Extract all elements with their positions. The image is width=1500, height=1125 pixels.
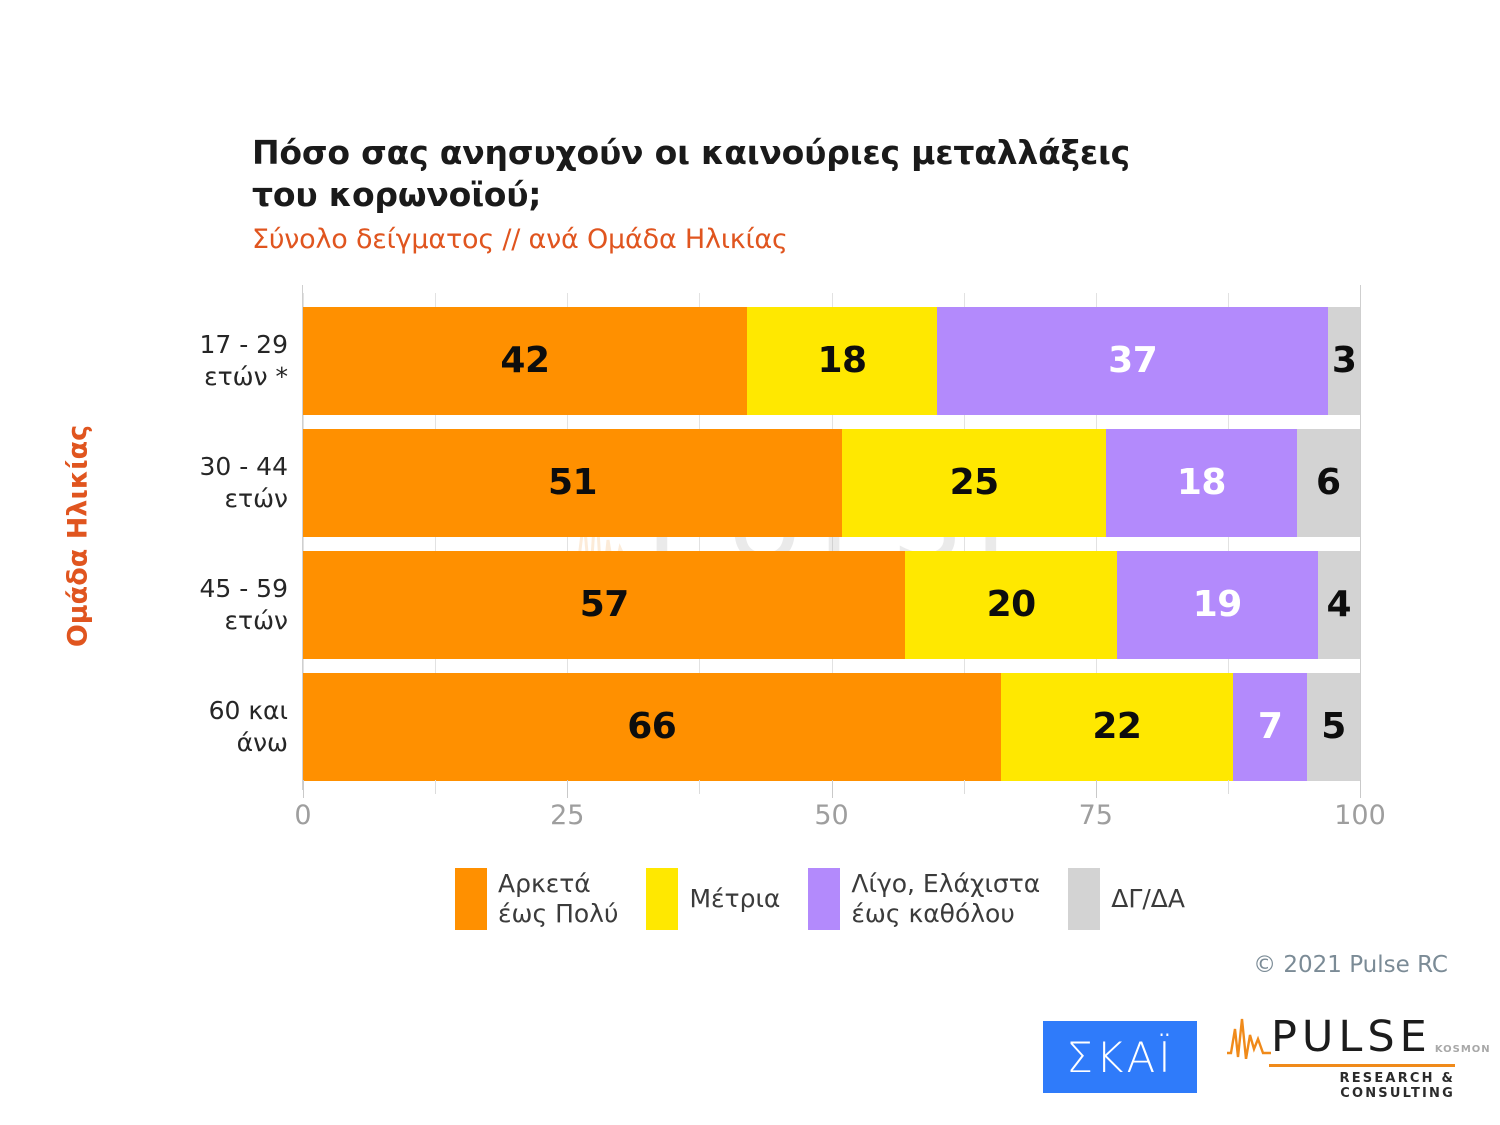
legend-label: Αρκετά έως Πολύ bbox=[498, 869, 618, 930]
bar-value-label: 57 bbox=[580, 587, 629, 623]
legend-ligo-elaxista[interactable]: Λίγο, Ελάχιστα έως καθόλου bbox=[808, 868, 1040, 930]
bar-value-label: 7 bbox=[1258, 709, 1283, 745]
legend-label: Μέτρια bbox=[689, 884, 780, 915]
bar-segment: 7 bbox=[1233, 673, 1307, 781]
bar-segment: 20 bbox=[905, 551, 1116, 659]
bar-segment: 57 bbox=[303, 551, 905, 659]
chart-subtitle: Σύνολο δείγματος // ανά Ομάδα Ηλικίας bbox=[252, 224, 1252, 255]
x-axis-major-tick bbox=[567, 780, 568, 798]
legend-swatch bbox=[455, 868, 487, 930]
bar-segment: 4 bbox=[1318, 551, 1360, 659]
bar-segment: 51 bbox=[303, 429, 842, 537]
pulse-tagline: RESEARCH & CONSULTING bbox=[1225, 1071, 1455, 1101]
legend-metria[interactable]: Μέτρια bbox=[646, 868, 780, 930]
bar-segment: 18 bbox=[1106, 429, 1296, 537]
plot-right-border bbox=[1360, 285, 1361, 790]
legend-dg-da[interactable]: ΔΓ/ΔΑ bbox=[1068, 868, 1185, 930]
bar-value-label: 51 bbox=[548, 465, 597, 501]
x-axis-tick-label: 50 bbox=[814, 800, 848, 831]
x-axis-minor-tick bbox=[435, 780, 436, 794]
bar-segment: 5 bbox=[1307, 673, 1360, 781]
title-block: Πόσο σας ανησυχούν οι καινούριες μεταλλά… bbox=[252, 132, 1252, 255]
pulse-divider bbox=[1269, 1064, 1455, 1067]
x-axis: 0255075100 bbox=[303, 780, 1360, 840]
copyright-text: © 2021 Pulse RC bbox=[1253, 952, 1448, 978]
x-axis-major-tick bbox=[832, 780, 833, 798]
x-axis-tick-label: 0 bbox=[294, 800, 311, 831]
bar-value-label: 66 bbox=[627, 709, 676, 745]
x-axis-minor-tick bbox=[1228, 780, 1229, 794]
bar-value-label: 18 bbox=[818, 343, 867, 379]
x-axis-minor-tick bbox=[699, 780, 700, 794]
page-title: Πόσο σας ανησυχούν οι καινούριες μεταλλά… bbox=[252, 132, 1252, 216]
bar-value-label: 6 bbox=[1316, 465, 1341, 501]
legend: Αρκετά έως ΠολύΜέτριαΛίγο, Ελάχιστα έως … bbox=[455, 868, 1213, 930]
skai-logo: ΣΚΑΪ bbox=[1043, 1021, 1197, 1093]
pulse-wordmark: PULSE bbox=[1271, 1016, 1432, 1059]
bar-segment: 19 bbox=[1117, 551, 1318, 659]
x-axis-minor-tick bbox=[964, 780, 965, 794]
legend-label: Λίγο, Ελάχιστα έως καθόλου bbox=[851, 869, 1040, 930]
bar-segment: 66 bbox=[303, 673, 1001, 781]
bar-row: 662275 bbox=[303, 673, 1360, 781]
legend-arketa-eos-poly[interactable]: Αρκετά έως Πολύ bbox=[455, 868, 618, 930]
bar-value-label: 37 bbox=[1108, 343, 1157, 379]
x-axis-major-tick bbox=[1096, 780, 1097, 798]
pulse-waveform-icon bbox=[1225, 1013, 1271, 1059]
bar-segment: 6 bbox=[1297, 429, 1360, 537]
bar-value-label: 25 bbox=[950, 465, 999, 501]
bar-value-label: 20 bbox=[987, 587, 1036, 623]
x-axis-major-tick bbox=[1360, 780, 1361, 798]
legend-swatch bbox=[1068, 868, 1100, 930]
legend-swatch bbox=[646, 868, 678, 930]
bar-value-label: 18 bbox=[1177, 465, 1226, 501]
bar-value-label: 5 bbox=[1321, 709, 1346, 745]
bar-value-label: 22 bbox=[1092, 709, 1141, 745]
x-axis-major-tick bbox=[303, 780, 304, 798]
bar-segment: 18 bbox=[747, 307, 937, 415]
bar-row: 5720194 bbox=[303, 551, 1360, 659]
y-axis-category-label: 45 - 59 ετών bbox=[98, 573, 288, 636]
bar-value-label: 4 bbox=[1327, 587, 1352, 623]
bar-segment: 42 bbox=[303, 307, 747, 415]
y-axis-category-label: 30 - 44 ετών bbox=[98, 451, 288, 514]
plot-area: PULSE KOSMON RESEARCH & CONSULTING 42183… bbox=[303, 293, 1360, 780]
pulse-logo-top: PULSE KOSMON bbox=[1225, 1013, 1455, 1059]
bar-segment: 37 bbox=[937, 307, 1328, 415]
y-axis-title: Ομάδα Ηλικίας bbox=[63, 425, 94, 647]
x-axis-tick-label: 75 bbox=[1079, 800, 1113, 831]
x-axis-tick-label: 25 bbox=[550, 800, 584, 831]
legend-swatch bbox=[808, 868, 840, 930]
bar-segment: 25 bbox=[842, 429, 1106, 537]
skai-logo-text: ΣΚΑΪ bbox=[1066, 1033, 1173, 1082]
bar-segment: 3 bbox=[1328, 307, 1360, 415]
legend-label: ΔΓ/ΔΑ bbox=[1111, 884, 1185, 915]
logos: ΣΚΑΪ PULSE KOSMON RESEARCH & CONSULTING bbox=[1043, 1013, 1455, 1101]
x-axis-tick-label: 100 bbox=[1334, 800, 1386, 831]
pulse-kosmon-text: KOSMON bbox=[1435, 1044, 1491, 1055]
y-axis-category-label: 60 και άνω bbox=[98, 695, 288, 758]
bar-row: 5125186 bbox=[303, 429, 1360, 537]
bar-value-label: 19 bbox=[1193, 587, 1242, 623]
y-axis-category-label: 17 - 29 ετών * bbox=[98, 329, 288, 392]
pulse-logo: PULSE KOSMON RESEARCH & CONSULTING bbox=[1225, 1013, 1455, 1101]
bar-segment: 22 bbox=[1001, 673, 1234, 781]
bar-value-label: 3 bbox=[1332, 343, 1357, 379]
bar-row: 4218373 bbox=[303, 307, 1360, 415]
bar-value-label: 42 bbox=[500, 343, 549, 379]
